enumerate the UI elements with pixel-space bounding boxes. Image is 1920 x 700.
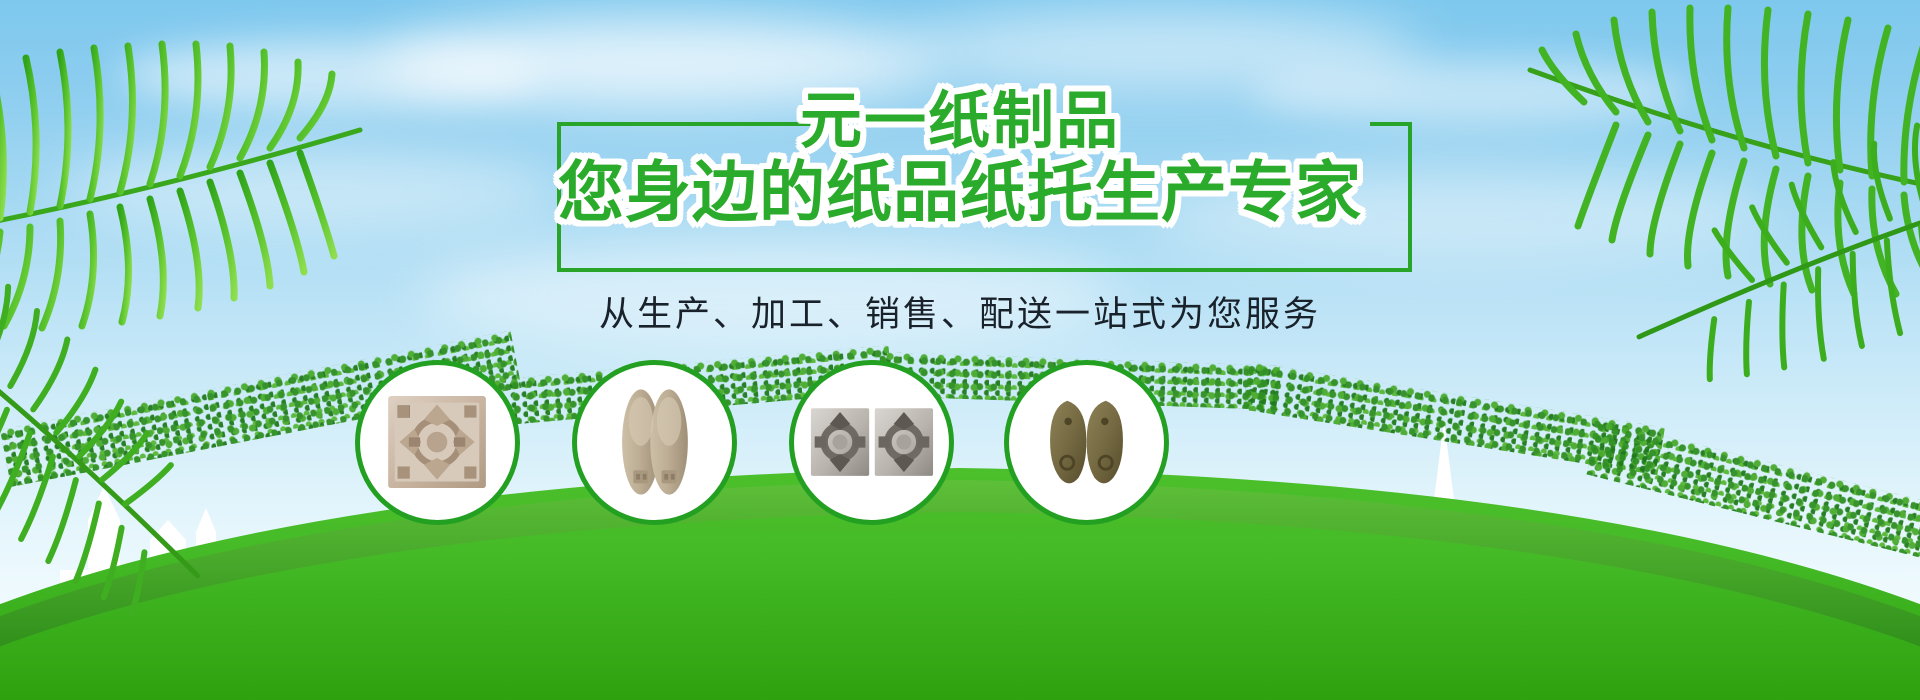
product-circle-2[interactable] <box>572 360 737 525</box>
product-circle-4[interactable] <box>1004 360 1169 525</box>
product-circle-3[interactable] <box>789 360 954 525</box>
gray-pulp-tray-pair-icon <box>794 365 949 520</box>
square-pulp-tray-beige-icon <box>360 365 515 520</box>
headline-line-1: 元一纸制品 <box>0 88 1920 154</box>
product-circle-1[interactable] <box>355 360 520 525</box>
shoe-last-pulp-pair-icon <box>1009 365 1164 520</box>
palm-frond-icon <box>0 311 259 650</box>
subtitle: 从生产、加工、销售、配送一站式为您服务 <box>0 295 1920 335</box>
promo-banner: 元一纸制品 您身边的纸品纸托生产专家 从生产、加工、销售、配送一站式为您服务 <box>0 0 1920 700</box>
headline-line-2: 您身边的纸品纸托生产专家 <box>0 158 1920 228</box>
shoe-insole-pulp-pair-icon <box>577 365 732 520</box>
